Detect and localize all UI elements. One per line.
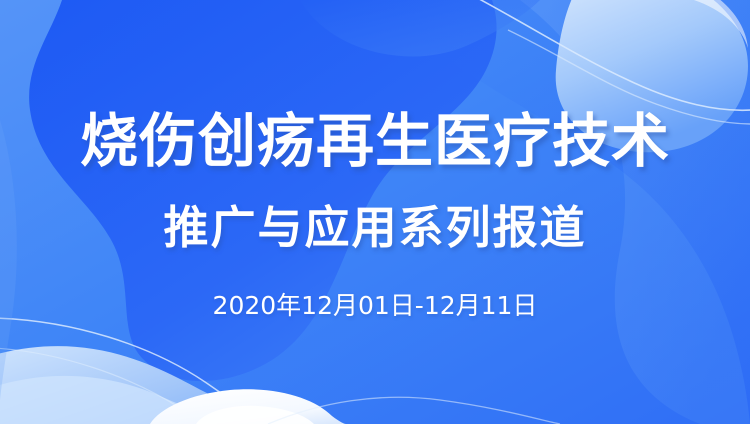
- poster-banner: 烧伤创疡再生医疗技术 推广与应用系列报道 2020年12月01日-12月11日: [0, 0, 750, 424]
- page-subtitle: 推广与应用系列报道: [0, 200, 750, 256]
- date-range-label: 2020年12月01日-12月11日: [0, 289, 750, 323]
- page-title: 烧伤创疡再生医疗技术: [0, 107, 750, 175]
- poster-text-content: 烧伤创疡再生医疗技术 推广与应用系列报道 2020年12月01日-12月11日: [0, 0, 750, 424]
